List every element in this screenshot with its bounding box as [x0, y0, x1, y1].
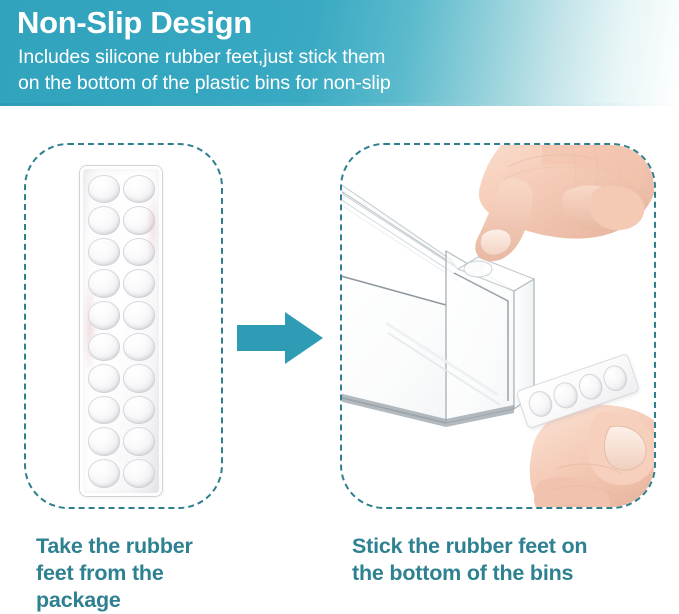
rubber-foot	[123, 238, 155, 267]
page-title: Non-Slip Design	[17, 3, 252, 43]
rubber-foot	[123, 396, 155, 425]
rubber-foot	[88, 427, 120, 456]
rubber-feet-grid	[86, 173, 156, 489]
caption-left: Take the rubber feet from the package	[36, 533, 266, 614]
header-subtitle: Includes silicone rubber feet,just stick…	[18, 44, 391, 96]
rubber-foot	[88, 333, 120, 362]
caption-right-line-1: Stick the rubber feet on	[352, 533, 652, 560]
caption-right-line-2: the bottom of the bins	[352, 560, 652, 587]
rubber-foot	[123, 459, 155, 488]
hand-pressing-foot	[446, 145, 654, 277]
rubber-foot	[123, 175, 155, 204]
panel-right-clip	[342, 145, 654, 507]
rubber-foot	[88, 364, 120, 393]
caption-left-line-3: package	[36, 587, 266, 614]
header-banner: Non-Slip Design Includes silicone rubber…	[0, 0, 679, 106]
rubber-foot	[123, 364, 155, 393]
rubber-foot	[88, 238, 120, 267]
header-subtitle-line-1: Includes silicone rubber feet,just stick…	[18, 44, 391, 70]
rubber-foot	[88, 175, 120, 204]
rubber-foot	[88, 301, 120, 330]
rubber-foot	[123, 269, 155, 298]
step-arrow-icon	[237, 312, 323, 364]
rubber-foot	[88, 396, 120, 425]
rubber-feet-sheet	[80, 166, 162, 496]
rubber-foot	[123, 206, 155, 235]
rubber-foot	[123, 427, 155, 456]
rubber-foot	[88, 269, 120, 298]
rubber-foot	[123, 301, 155, 330]
rubber-foot	[123, 333, 155, 362]
rubber-foot	[88, 459, 120, 488]
caption-left-line-1: Take the rubber	[36, 533, 266, 560]
step-panel-right	[340, 143, 656, 509]
header-subtitle-line-2: on the bottom of the plastic bins for no…	[18, 70, 391, 96]
caption-right: Stick the rubber feet on the bottom of t…	[352, 533, 652, 587]
rubber-foot	[88, 206, 120, 235]
caption-left-line-2: feet from the	[36, 560, 266, 587]
